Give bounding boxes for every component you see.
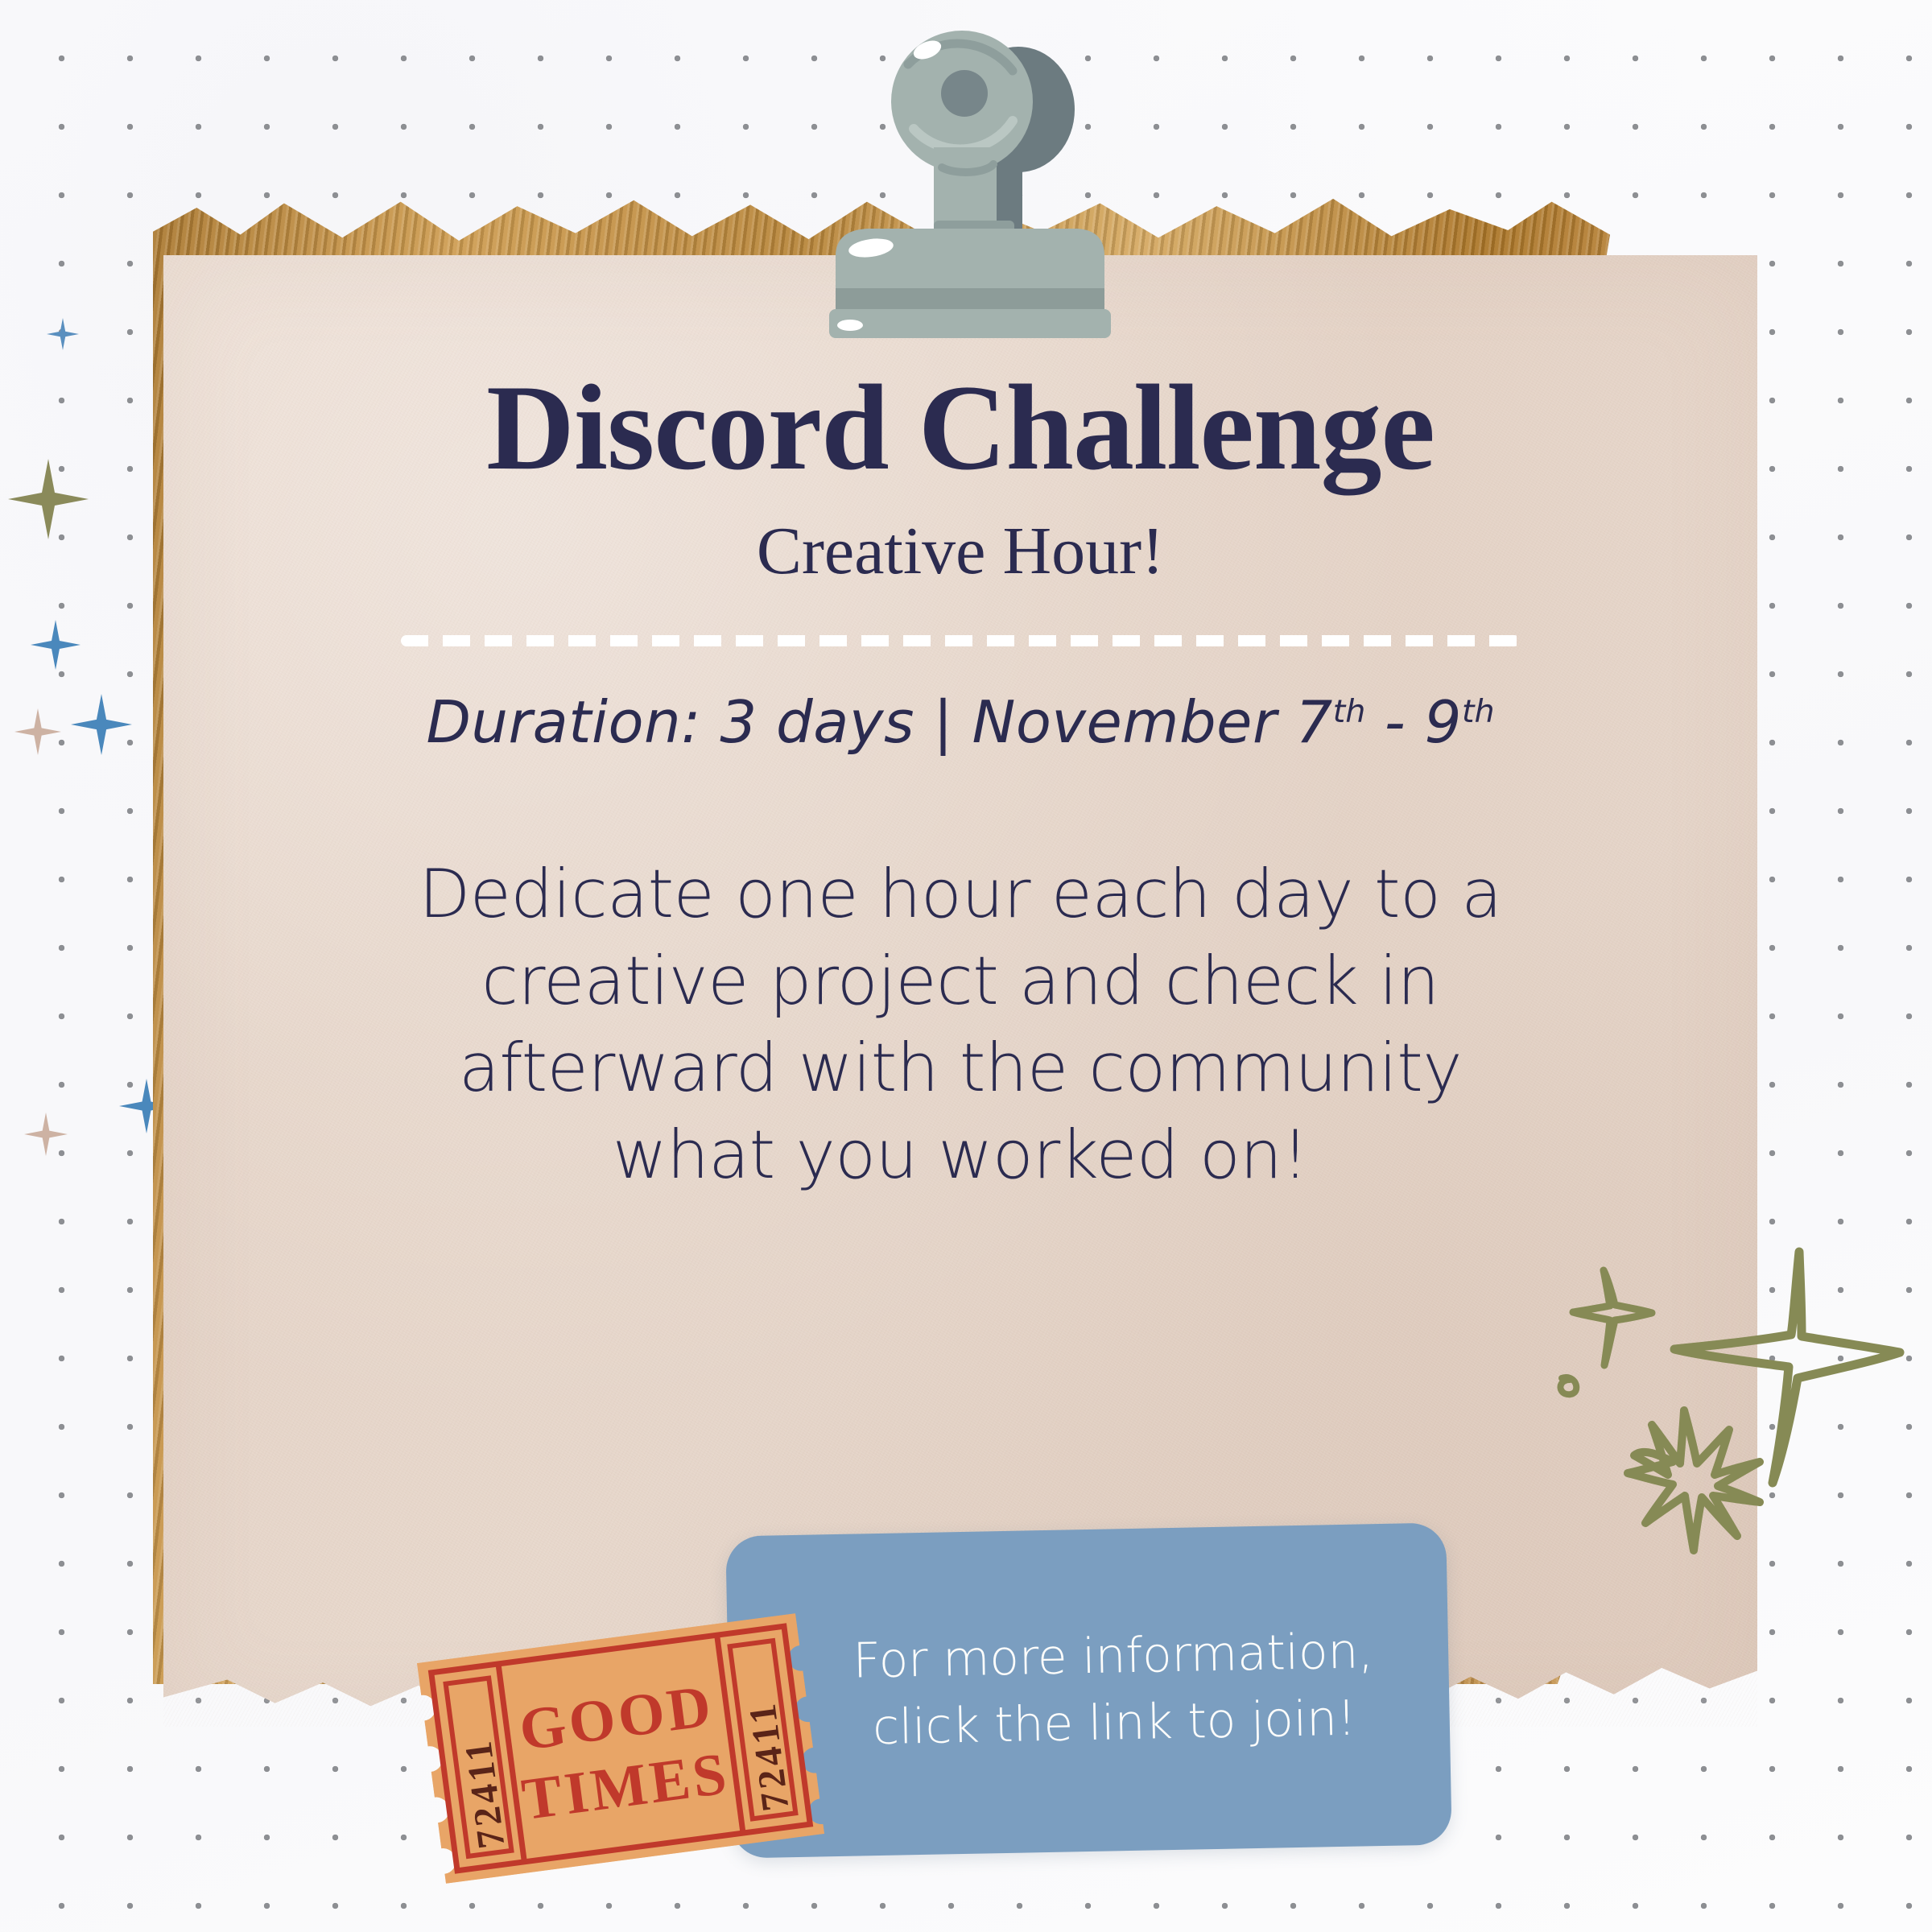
page-title: Discord Challenge <box>260 366 1661 489</box>
clip-base-shadow-band <box>836 288 1104 311</box>
body-line: creative project and check in <box>260 938 1661 1025</box>
poster-content: Discord Challenge Creative Hour! Duratio… <box>163 255 1757 1727</box>
duration-line: Duration: 3 days | November 7th - 9th <box>260 688 1661 756</box>
page-subtitle: Creative Hour! <box>260 518 1661 585</box>
clip-center-hole <box>941 70 988 117</box>
duration-start-ordinal: th <box>1333 693 1366 730</box>
join-callout-text: For more information, click the link to … <box>782 1618 1396 1763</box>
binder-clip <box>821 14 1127 353</box>
duration-start-day: 7 <box>1295 688 1332 756</box>
body-line: afterward with the community <box>260 1025 1661 1112</box>
duration-separator: - <box>1365 688 1424 756</box>
clip-base-foot <box>829 309 1111 338</box>
callout-line-1: For more information, <box>852 1618 1374 1695</box>
duration-end-ordinal: th <box>1462 693 1495 730</box>
duration-prefix: Duration: 3 days | November <box>426 688 1295 756</box>
binder-clip-svg <box>821 14 1127 353</box>
callout-line-2: click the link to join! <box>853 1685 1375 1761</box>
body-line: what you worked on! <box>260 1112 1661 1199</box>
clip-foot-specular <box>837 320 863 331</box>
dashed-divider <box>401 635 1520 646</box>
body-description: Dedicate one hour each day to a creative… <box>260 851 1661 1199</box>
body-line: Dedicate one hour each day to a <box>260 851 1661 938</box>
duration-end-day: 9 <box>1425 688 1462 756</box>
